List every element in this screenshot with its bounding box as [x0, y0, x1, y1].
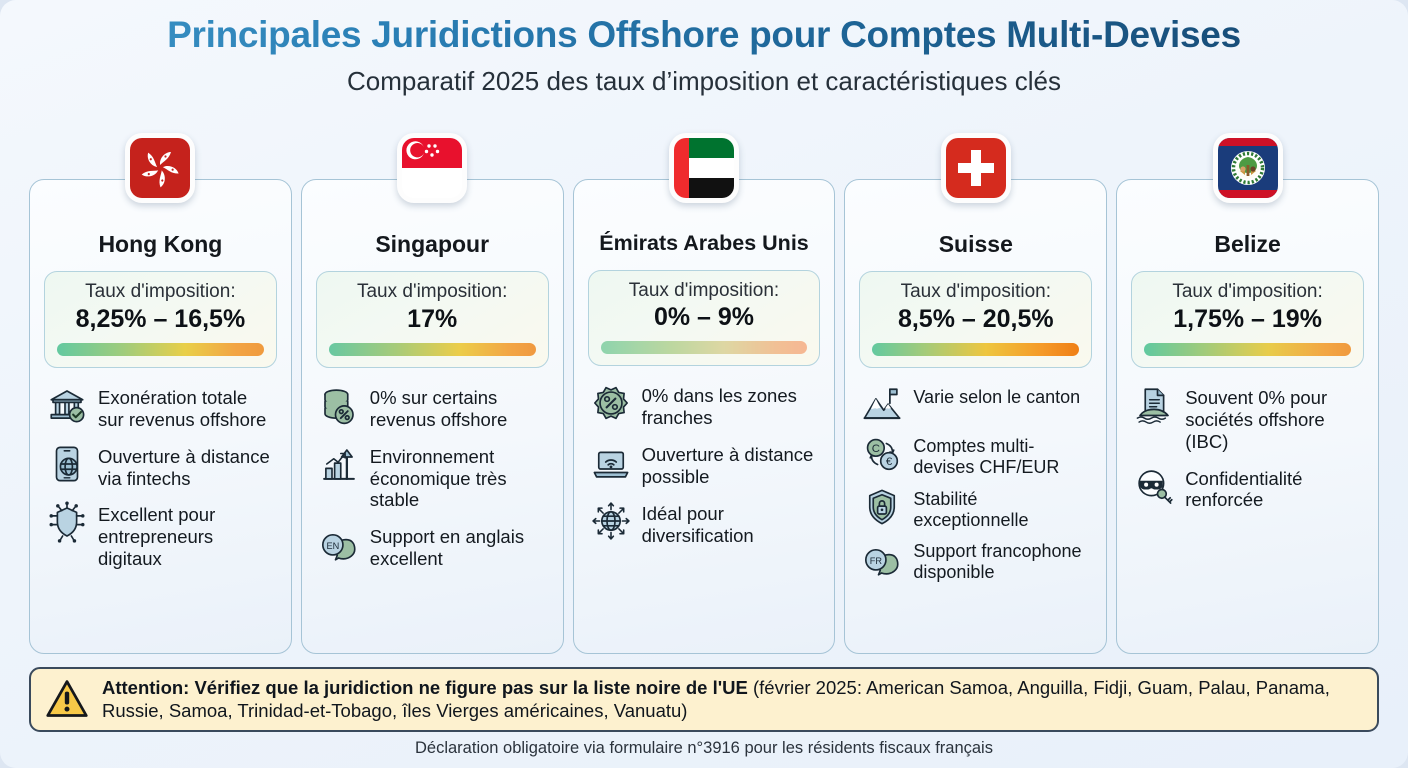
feature-text: Souvent 0% pour sociétés offshore (IBC) [1185, 386, 1362, 452]
feature-item: C€Comptes multi-devises CHF/EUR [861, 435, 1090, 478]
header: Principales Juridictions Offshore pour C… [0, 0, 1408, 96]
feature-text: 0% sur certains revenus offshore [370, 386, 547, 431]
tax-rate-gradient-bar [872, 343, 1079, 356]
feature-item: Excellent pour entrepreneurs digitaux [46, 503, 275, 569]
speech-bubble-fr-icon: FR [861, 538, 903, 580]
growth-chart-icon [318, 443, 360, 485]
feature-item: Exonération totale sur revenus offshore [46, 386, 275, 431]
feature-text: Exonération totale sur revenus offshore [98, 386, 275, 431]
hong-kong-flag [125, 133, 195, 203]
feature-item: 0% sur certains revenus offshore [318, 386, 547, 431]
svg-text:C: C [872, 443, 880, 455]
feature-item: Ouverture à distance possible [590, 443, 819, 488]
tax-rate-value: 1,75% – 19% [1144, 304, 1351, 334]
hong-kong-flag-image [130, 138, 190, 198]
feature-text: Comptes multi-devises CHF/EUR [913, 435, 1090, 478]
tax-rate-gradient-bar [329, 343, 536, 356]
feature-list: 0% sur certains revenus offshoreEnvironn… [316, 386, 549, 570]
feature-item: Idéal pour diversification [590, 502, 819, 547]
bank-check-icon [46, 384, 88, 426]
svg-text:FR: FR [870, 556, 883, 566]
feature-item: ENSupport en anglais excellent [318, 525, 547, 570]
tax-rate-label: Taux d'imposition: [57, 281, 264, 303]
switzerland-flag-image [946, 138, 1006, 198]
mountain-flag-icon [861, 384, 903, 426]
feature-list: 0% dans les zones franchesOuverture à di… [588, 384, 821, 546]
jurisdiction-card-suisse: SuisseTaux d'imposition:8,5% – 20,5%Vari… [844, 179, 1107, 654]
tax-rate-box: Taux d'imposition:8,5% – 20,5% [859, 271, 1092, 368]
tax-rate-box: Taux d'imposition:1,75% – 19% [1131, 271, 1364, 368]
warning-banner: Attention: Vérifiez que la juridiction n… [29, 667, 1379, 732]
country-name: Singapour [316, 232, 549, 257]
currency-exchange-icon: C€ [861, 433, 903, 475]
infographic-page: Principales Juridictions Offshore pour C… [0, 0, 1408, 768]
feature-item: Souvent 0% pour sociétés offshore (IBC) [1133, 386, 1362, 452]
country-name: Belize [1131, 232, 1364, 257]
feature-text: Environnement économique très stable [370, 445, 547, 511]
globe-arrows-icon [590, 500, 632, 542]
country-name: Hong Kong [44, 232, 277, 257]
shield-lock-icon [861, 486, 903, 528]
tax-rate-value: 17% [329, 304, 536, 334]
page-title: Principales Juridictions Offshore pour C… [0, 14, 1408, 57]
tax-rate-box: Taux d'imposition:17% [316, 271, 549, 368]
jurisdiction-card-hong-kong: Hong KongTaux d'imposition:8,25% – 16,5%… [29, 179, 292, 654]
footer-note: Déclaration obligatoire via formulaire n… [0, 739, 1408, 758]
feature-list: Varie selon le cantonC€Comptes multi-dev… [859, 386, 1092, 583]
tax-rate-box: Taux d'imposition:8,25% – 16,5% [44, 271, 277, 368]
tax-rate-label: Taux d'imposition: [601, 280, 808, 302]
feature-text: Varie selon le canton [913, 386, 1080, 408]
page-subtitle: Comparatif 2025 des taux d’imposition et… [0, 67, 1408, 97]
feature-list: Souvent 0% pour sociétés offshore (IBC)C… [1131, 386, 1364, 511]
warning-triangle-icon [45, 677, 89, 721]
feature-item: FRSupport francophone disponible [861, 540, 1090, 583]
tax-rate-box: Taux d'imposition:0% – 9% [588, 270, 821, 367]
tax-rate-label: Taux d'imposition: [872, 281, 1079, 303]
speech-bubble-en-icon: EN [318, 523, 360, 565]
country-name: Suisse [859, 232, 1092, 257]
jurisdiction-card-mirats-arabes-unis: Émirats Arabes UnisTaux d'imposition:0% … [573, 179, 836, 654]
svg-text:€: € [886, 456, 893, 468]
feature-item: Environnement économique très stable [318, 445, 547, 511]
tax-rate-value: 8,5% – 20,5% [872, 304, 1079, 334]
feature-text: Confidentialité renforcée [1185, 467, 1362, 512]
anonymous-mask-key-icon [1133, 465, 1175, 507]
feature-item: Confidentialité renforcée [1133, 467, 1362, 512]
coins-percent-icon [318, 384, 360, 426]
shield-circuit-icon [46, 501, 88, 543]
svg-text:EN: EN [326, 541, 339, 551]
singapore-flag-image [402, 138, 462, 198]
feature-text: Stabilité exceptionnelle [913, 488, 1090, 531]
belize-flag [1213, 133, 1283, 203]
feature-item: Varie selon le canton [861, 386, 1090, 426]
feature-text: Idéal pour diversification [642, 502, 819, 547]
belize-flag-image [1218, 138, 1278, 198]
mobile-globe-icon [46, 443, 88, 485]
switzerland-flag [941, 133, 1011, 203]
tax-rate-gradient-bar [601, 341, 808, 354]
percent-seal-icon [590, 382, 632, 424]
feature-text: 0% dans les zones franches [642, 384, 819, 429]
feature-text: Support en anglais excellent [370, 525, 547, 570]
feature-list: Exonération totale sur revenus offshoreO… [44, 386, 277, 570]
warning-text: Attention: Vérifiez que la juridiction n… [102, 676, 1363, 722]
singapore-flag [397, 133, 467, 203]
jurisdiction-card-belize: BelizeTaux d'imposition:1,75% – 19%Souve… [1116, 179, 1379, 654]
jurisdiction-card-singapour: SingapourTaux d'imposition:17%0% sur cer… [301, 179, 564, 654]
feature-item: Ouverture à distance via fintechs [46, 445, 275, 490]
tax-rate-gradient-bar [57, 343, 264, 356]
tax-rate-value: 8,25% – 16,5% [57, 304, 264, 334]
tax-rate-label: Taux d'imposition: [329, 281, 536, 303]
warning-bold-text: Attention: Vérifiez que la juridiction n… [102, 677, 748, 698]
uae-flag-image [674, 138, 734, 198]
feature-text: Excellent pour entrepreneurs digitaux [98, 503, 275, 569]
feature-item: 0% dans les zones franches [590, 384, 819, 429]
feature-item: Stabilité exceptionnelle [861, 488, 1090, 531]
country-name: Émirats Arabes Unis [588, 232, 821, 256]
feature-text: Ouverture à distance possible [642, 443, 819, 488]
tax-rate-gradient-bar [1144, 343, 1351, 356]
feature-text: Ouverture à distance via fintechs [98, 445, 275, 490]
laptop-wifi-icon [590, 441, 632, 483]
tax-rate-value: 0% – 9% [601, 302, 808, 332]
feature-text: Support francophone disponible [913, 540, 1090, 583]
uae-flag [669, 133, 739, 203]
tax-rate-label: Taux d'imposition: [1144, 281, 1351, 303]
document-island-icon [1133, 384, 1175, 426]
jurisdiction-cards: Hong KongTaux d'imposition:8,25% – 16,5%… [29, 179, 1379, 654]
